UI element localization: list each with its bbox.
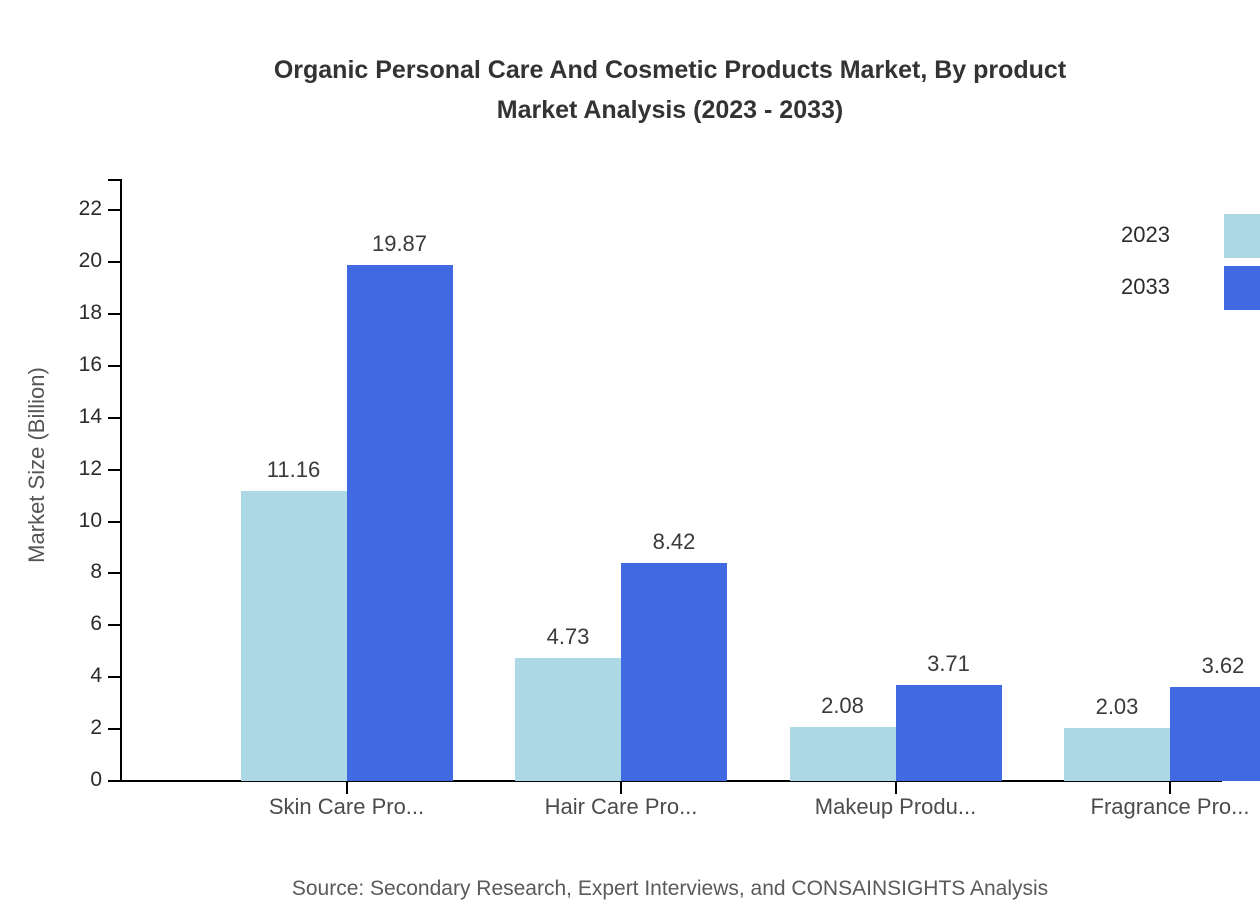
bar-value-label: 4.73 [547,624,590,650]
chart-legend: 20232033 [1100,214,1260,314]
bar-chart: Organic Personal Care And Cosmetic Produ… [0,0,1260,920]
y-tick-label: 8 [90,560,102,584]
x-axis-category-label: Makeup Produ... [815,794,976,820]
y-tick-mark [108,261,120,263]
bar-value-label: 3.62 [1202,653,1245,679]
bar-value-label: 2.08 [821,693,864,719]
y-tick-mark [108,572,120,574]
y-tick-mark [108,728,120,730]
bar-value-label: 11.16 [267,457,320,483]
bar-value-label: 2.03 [1096,694,1139,720]
bar-value-label: 19.87 [372,231,427,257]
bar[interactable] [1064,728,1170,781]
bar[interactable] [790,727,896,781]
x-tick-mark [346,782,348,794]
y-tick-label: 12 [79,457,102,481]
x-tick-mark [895,782,897,794]
y-axis-spine [120,179,122,782]
bar-value-label: 3.71 [927,651,970,677]
y-tick-label: 6 [90,612,102,636]
y-tick-label: 0 [90,768,102,792]
legend-item[interactable]: 2033 [1100,266,1260,310]
x-tick-mark [1169,782,1171,794]
source-note: Source: Secondary Research, Expert Inter… [90,877,1250,901]
chart-title: Organic Personal Care And Cosmetic Produ… [90,50,1250,130]
y-tick-mark [108,469,120,471]
legend-label: 2023 [1121,222,1170,248]
x-tick-mark [620,782,622,794]
bar[interactable] [1170,687,1260,781]
y-tick-mark [108,417,120,419]
legend-color-swatch [1224,266,1260,310]
legend-label: 2033 [1121,274,1170,300]
bar[interactable] [347,265,453,781]
y-tick-label: 2 [90,716,102,740]
y-tick-label: 18 [79,301,102,325]
y-tick-label: 22 [79,197,102,221]
x-axis-category-label: Skin Care Pro... [269,794,424,820]
y-tick-mark [108,521,120,523]
bar[interactable] [896,685,1002,781]
y-tick-mark [108,365,120,367]
y-tick-label: 16 [79,353,102,377]
x-axis-category-label: Fragrance Pro... [1091,794,1250,820]
y-tick-label: 14 [79,405,102,429]
bar[interactable] [621,563,727,781]
y-axis-title: Market Size (Billion) [24,160,50,770]
bar-value-label: 8.42 [653,529,696,555]
y-tick-mark [108,313,120,315]
bar[interactable] [241,491,347,781]
bar[interactable] [515,658,621,781]
y-tick-mark [108,624,120,626]
y-axis-top-cap [108,179,122,181]
y-tick-mark [108,676,120,678]
y-tick-mark [108,209,120,211]
legend-color-swatch [1224,214,1260,258]
y-tick-label: 20 [79,249,102,273]
y-tick-label: 4 [90,664,102,688]
y-tick-mark [108,780,120,782]
y-tick-label: 10 [79,509,102,533]
legend-item[interactable]: 2023 [1100,214,1260,258]
x-axis-category-label: Hair Care Pro... [545,794,698,820]
